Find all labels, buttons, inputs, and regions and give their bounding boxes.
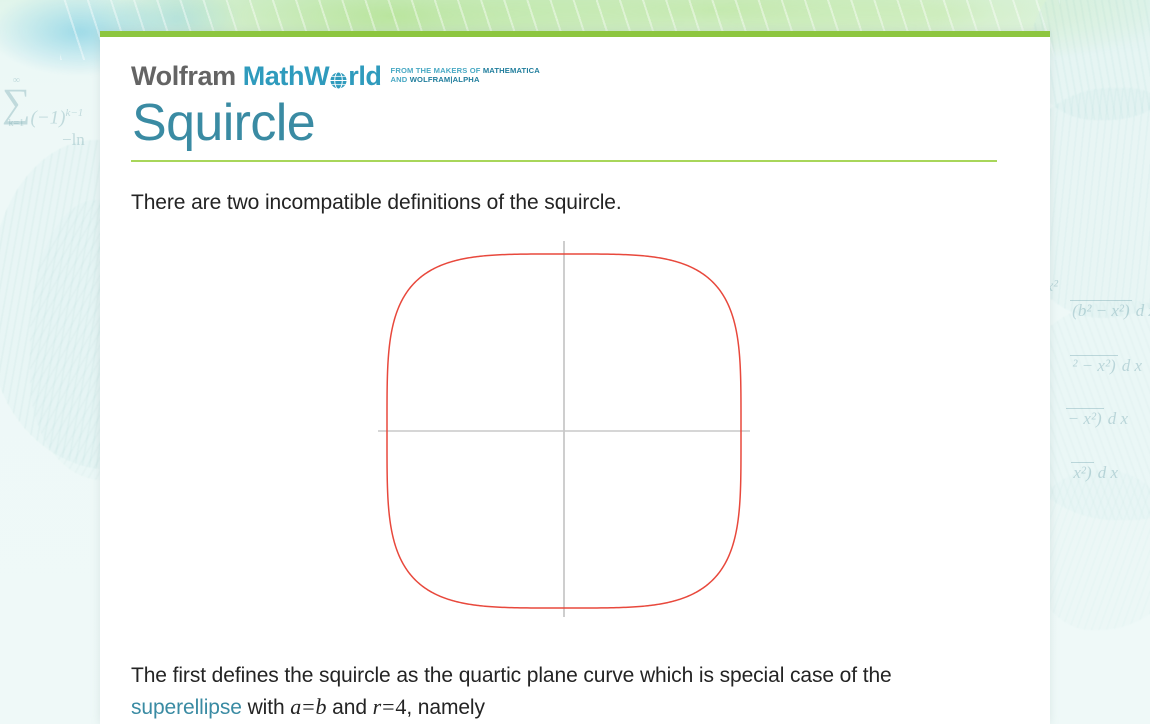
math-a-equals-b: a=b — [290, 694, 326, 719]
integral-fraction: − x²) — [1066, 408, 1104, 429]
integral-denominator: (b² − x²) — [1072, 301, 1130, 320]
background-summation-formula: ∞ ∑ k=1 (−1)k−1 — [2, 76, 83, 130]
integral-fraction: ² − x²) — [1070, 355, 1117, 376]
math-equals-1: = — [301, 694, 315, 719]
background-integral-1: (b² − x²) d x — [1070, 300, 1150, 321]
first-def-after-link-1: with — [242, 696, 290, 719]
page-title: Squircle — [132, 93, 996, 154]
math-equals-2: = — [381, 694, 395, 719]
logo-wolfram-text: Wolfram — [131, 63, 236, 90]
content-card: Wolfram MathW rld FROM THE MAKERS OF MAT… — [100, 31, 1050, 724]
tagline-line-2: AND WOLFRAM|ALPHA — [391, 75, 480, 84]
background-integral-3: − x²) d x — [1066, 408, 1128, 429]
integral-differential: d x — [1122, 356, 1142, 375]
site-logo[interactable]: Wolfram MathW rld FROM THE MAKERS OF MAT… — [131, 63, 996, 90]
first-def-after-link-2: and — [326, 696, 372, 719]
integral-fraction: (b² − x²) — [1070, 300, 1132, 321]
logo-rld-text: rld — [348, 63, 381, 90]
math-var-b: b — [316, 694, 327, 719]
integral-denominator: ² − x²) — [1072, 356, 1115, 375]
math-value-4: 4 — [395, 694, 406, 719]
integral-differential: d x — [1098, 463, 1118, 482]
background-integral-4: x²) d x — [1071, 462, 1118, 483]
logo-math-text: Math — [243, 63, 304, 90]
summation-exponent: k−1 — [66, 107, 84, 119]
background-log-formula: −ln — [62, 130, 85, 150]
background-log-text: −ln — [62, 130, 85, 149]
tagline-line1-bold: MATHEMATICA — [483, 66, 540, 75]
first-def-after-link-3: , namely — [406, 696, 485, 719]
summation-lower-limit: k=1 — [8, 118, 24, 129]
intro-paragraph: There are two incompatible definitions o… — [131, 188, 996, 218]
logo-tagline: FROM THE MAKERS OF MATHEMATICA AND WOLFR… — [391, 67, 540, 85]
math-var-r: r — [373, 694, 381, 719]
integral-fraction: x²) — [1071, 462, 1093, 483]
tagline-line2-plain: AND — [391, 75, 410, 84]
first-def-before-link: The first defines the squircle as the qu… — [131, 664, 892, 687]
card-inner: Wolfram MathW rld FROM THE MAKERS OF MAT… — [100, 37, 1050, 723]
logo-mathworld-text: MathW rld — [243, 63, 382, 90]
summation-limits: ∞ ∑ k=1 — [2, 76, 31, 129]
integral-denominator: x²) — [1073, 463, 1091, 482]
squircle-figure — [131, 239, 996, 631]
title-divider-rule — [131, 160, 997, 162]
integral-denominator: − x²) — [1068, 409, 1102, 428]
math-r-equals-4: r=4 — [373, 694, 407, 719]
math-var-a: a — [290, 694, 301, 719]
logo-w-text: W — [304, 63, 329, 90]
superellipse-link[interactable]: superellipse — [131, 696, 242, 719]
tagline-line-1: FROM THE MAKERS OF MATHEMATICA — [391, 66, 540, 75]
summation-term: (−1) — [31, 108, 66, 129]
summation-sigma: ∑ — [2, 87, 31, 119]
integral-differential: d x — [1108, 409, 1128, 428]
tagline-line1-plain: FROM THE MAKERS OF — [391, 66, 483, 75]
integral-differential: d x — [1136, 301, 1150, 320]
squircle-plot — [377, 239, 757, 623]
tagline-line2-bold: WOLFRAM|ALPHA — [410, 75, 480, 84]
background-integral-2: ² − x²) d x — [1070, 355, 1142, 376]
globe-icon — [329, 68, 348, 87]
first-definition-paragraph: The first defines the squircle as the qu… — [131, 661, 961, 723]
